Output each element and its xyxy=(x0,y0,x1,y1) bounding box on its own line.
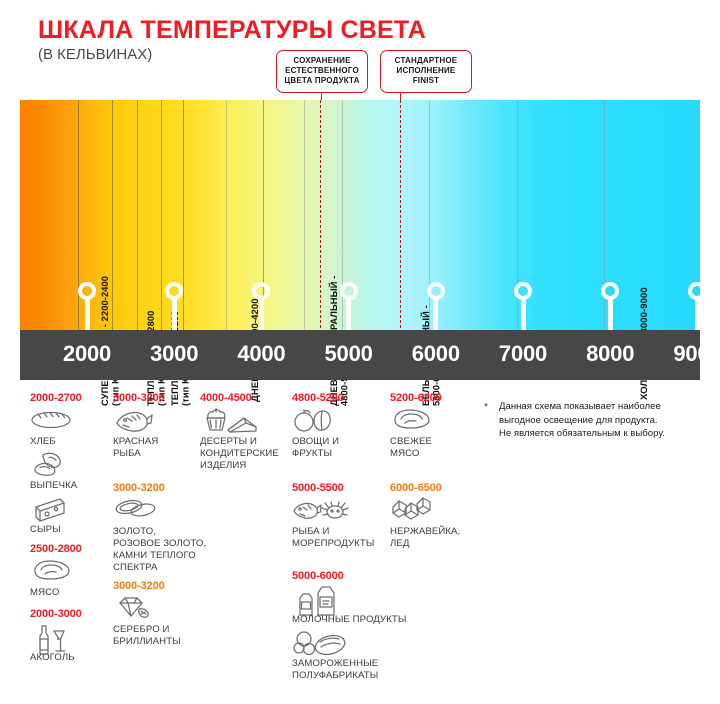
footnote: * Данная схема показывает наиболеевыгодн… xyxy=(484,400,708,441)
page-subtitle: (В КЕЛЬВИНАХ) xyxy=(38,46,152,63)
scale-number-2000: 2000 xyxy=(63,341,111,367)
legend-group: 6000-6500НЕРЖАВЕЙКА,ЛЕД xyxy=(390,482,590,550)
footnote-line: выгодное освещение для продукта. xyxy=(499,414,708,428)
temperature-scale-bar: СУПЕР ТЕПЛЫЙ - 2200-2400(тип К 2400)ТЕПЛ… xyxy=(20,100,700,380)
scale-number-4000: 4000 xyxy=(237,341,285,367)
legend-item-label: МОЛОЧНЫЕ ПРОДУКТЫ xyxy=(292,614,492,626)
marker-stem xyxy=(433,298,438,334)
footnote-line: Данная схема показывает наиболее xyxy=(499,400,708,414)
scale-number-9000: 9000 xyxy=(673,341,720,367)
callout-line: СОХРАНЕНИЕ xyxy=(284,56,360,66)
scale-number-3000: 3000 xyxy=(150,341,198,367)
legend-item-label: НЕРЖАВЕЙКА,ЛЕД xyxy=(390,526,590,550)
legend-item-label-line: МОЛОЧНЫЕ ПРОДУКТЫ xyxy=(292,614,492,626)
callout-line: ИСПОЛНЕНИЕ xyxy=(388,66,464,76)
band-separator xyxy=(226,100,227,330)
band-label-line1: БЕЛЫЙ ХОЛОДНЫЙ - xyxy=(421,240,432,406)
marker-stem xyxy=(346,298,351,334)
marker-stem xyxy=(172,298,177,334)
legend-item: СЕРЕБРО ИБРИЛЛИАНТЫ xyxy=(113,595,313,648)
footnote-text: Данная схема показывает наиболеевыгодное… xyxy=(499,400,708,441)
legend-item: НЕРЖАВЕЙКА,ЛЕД xyxy=(390,497,590,550)
legend-item: ЗОЛОТО,РОЗОВОЕ ЗОЛОТО,КАМНИ ТЕПЛОГОСПЕКТ… xyxy=(113,497,313,574)
gradient-strip xyxy=(20,100,700,330)
legend-item-label: АКОГОЛЬ xyxy=(30,652,230,664)
marker-stem xyxy=(259,298,264,334)
marker-stem xyxy=(521,298,526,334)
legend-range-5000-6000: 5000-6000 xyxy=(292,570,492,582)
gold-rings-icon xyxy=(113,497,313,525)
dairy-icon xyxy=(292,585,492,613)
legend-group: 3000-3200СЕРЕБРО ИБРИЛЛИАНТЫ xyxy=(113,580,313,648)
legend-item-label-line: МЯСО xyxy=(390,448,590,460)
legend-item: ЗАМОРОЖЕННЫЕПОЛУФАБРИКАТЫ xyxy=(292,629,492,682)
band-separator xyxy=(137,100,138,330)
callout-line: СТАНДАРТНОЕ xyxy=(388,56,464,66)
scale-number-8000: 8000 xyxy=(586,341,634,367)
legend-group: 5000-6000МОЛОЧНЫЕ ПРОДУКТЫЗАМОРОЖЕННЫЕПО… xyxy=(292,570,492,682)
legend-item-label-line: АКОГОЛЬ xyxy=(30,652,230,664)
scale-number-5000: 5000 xyxy=(325,341,373,367)
legend-item-label-line: НЕРЖАВЕЙКА, xyxy=(390,526,590,538)
dashed-guide-line-finist xyxy=(400,100,401,348)
callout-line: ЕСТЕСТВЕННОГО xyxy=(284,66,360,76)
legend-item-label-line: ЗАМОРОЖЕННЫЕ xyxy=(292,658,492,670)
callout-finist-standard: СТАНДАРТНОЕИСПОЛНЕНИЕFINIST xyxy=(380,50,472,93)
callout-line: FINIST xyxy=(388,76,464,86)
legend-item-label-line: БРИЛЛИАНТЫ xyxy=(113,636,313,648)
legend-item-label-line: ЛЕД xyxy=(390,538,590,550)
legend-range-3000-3200: 3000-3200 xyxy=(113,482,313,494)
dashed-guide-line-natural xyxy=(320,100,321,348)
callout-natural-color: СОХРАНЕНИЕЕСТЕСТВЕННОГОЦВЕТА ПРОДУКТА xyxy=(276,50,368,93)
legend-item-label-line: ЗОЛОТО, xyxy=(113,526,313,538)
legend-item: МОЛОЧНЫЕ ПРОДУКТЫ xyxy=(292,585,492,626)
marker-stem xyxy=(608,298,613,334)
legend-group: 3000-3200ЗОЛОТО,РОЗОВОЕ ЗОЛОТО,КАМНИ ТЕП… xyxy=(113,482,313,574)
marker-stem xyxy=(85,298,90,334)
scale-number-7000: 7000 xyxy=(499,341,547,367)
stainless-ice-icon xyxy=(390,497,590,525)
scale-number-strip: 20003000400050006000700080009000 xyxy=(20,330,700,380)
legend-item-label: ЗОЛОТО,РОЗОВОЕ ЗОЛОТО,КАМНИ ТЕПЛОГОСПЕКТ… xyxy=(113,526,313,574)
band-label-white-cold: БЕЛЫЙ ХОЛОДНЫЙ -5800-6500 xyxy=(421,240,442,406)
callout-line: ЦВЕТА ПРОДУКТА xyxy=(284,76,360,86)
legend-item-label: СЕРЕБРО ИБРИЛЛИАНТЫ xyxy=(113,624,313,648)
legend-item-label-line: СПЕКТРА xyxy=(113,562,313,574)
legend-item-label-line: РОЗОВОЕ ЗОЛОТО, xyxy=(113,538,313,550)
diamond-icon xyxy=(113,595,313,623)
legend-item-label: ЗАМОРОЖЕННЫЕПОЛУФАБРИКАТЫ xyxy=(292,658,492,682)
band-separator xyxy=(304,100,305,330)
legend-range-3000-3200: 3000-3200 xyxy=(113,580,313,592)
page-title: ШКАЛА ТЕМПЕРАТУРЫ СВЕТА xyxy=(38,16,426,45)
scale-number-6000: 6000 xyxy=(412,341,460,367)
legend-range-6000-6500: 6000-6500 xyxy=(390,482,590,494)
legend-item-label-line: СЕРЕБРО И xyxy=(113,624,313,636)
frozen-food-icon xyxy=(292,629,492,657)
legend-item-label-line: КАМНИ ТЕПЛОГО xyxy=(113,550,313,562)
footnote-line: Не является обязательным к выбору. xyxy=(499,427,708,441)
marker-stem xyxy=(695,298,700,334)
legend-item-label-line: ИЗДЕЛИЯ xyxy=(200,460,400,472)
footnote-star: * xyxy=(484,402,488,413)
legend-item-label-line: ПОЛУФАБРИКАТЫ xyxy=(292,670,492,682)
infographic-page: ШКАЛА ТЕМПЕРАТУРЫ СВЕТА (В КЕЛЬВИНАХ) СО… xyxy=(0,0,720,704)
